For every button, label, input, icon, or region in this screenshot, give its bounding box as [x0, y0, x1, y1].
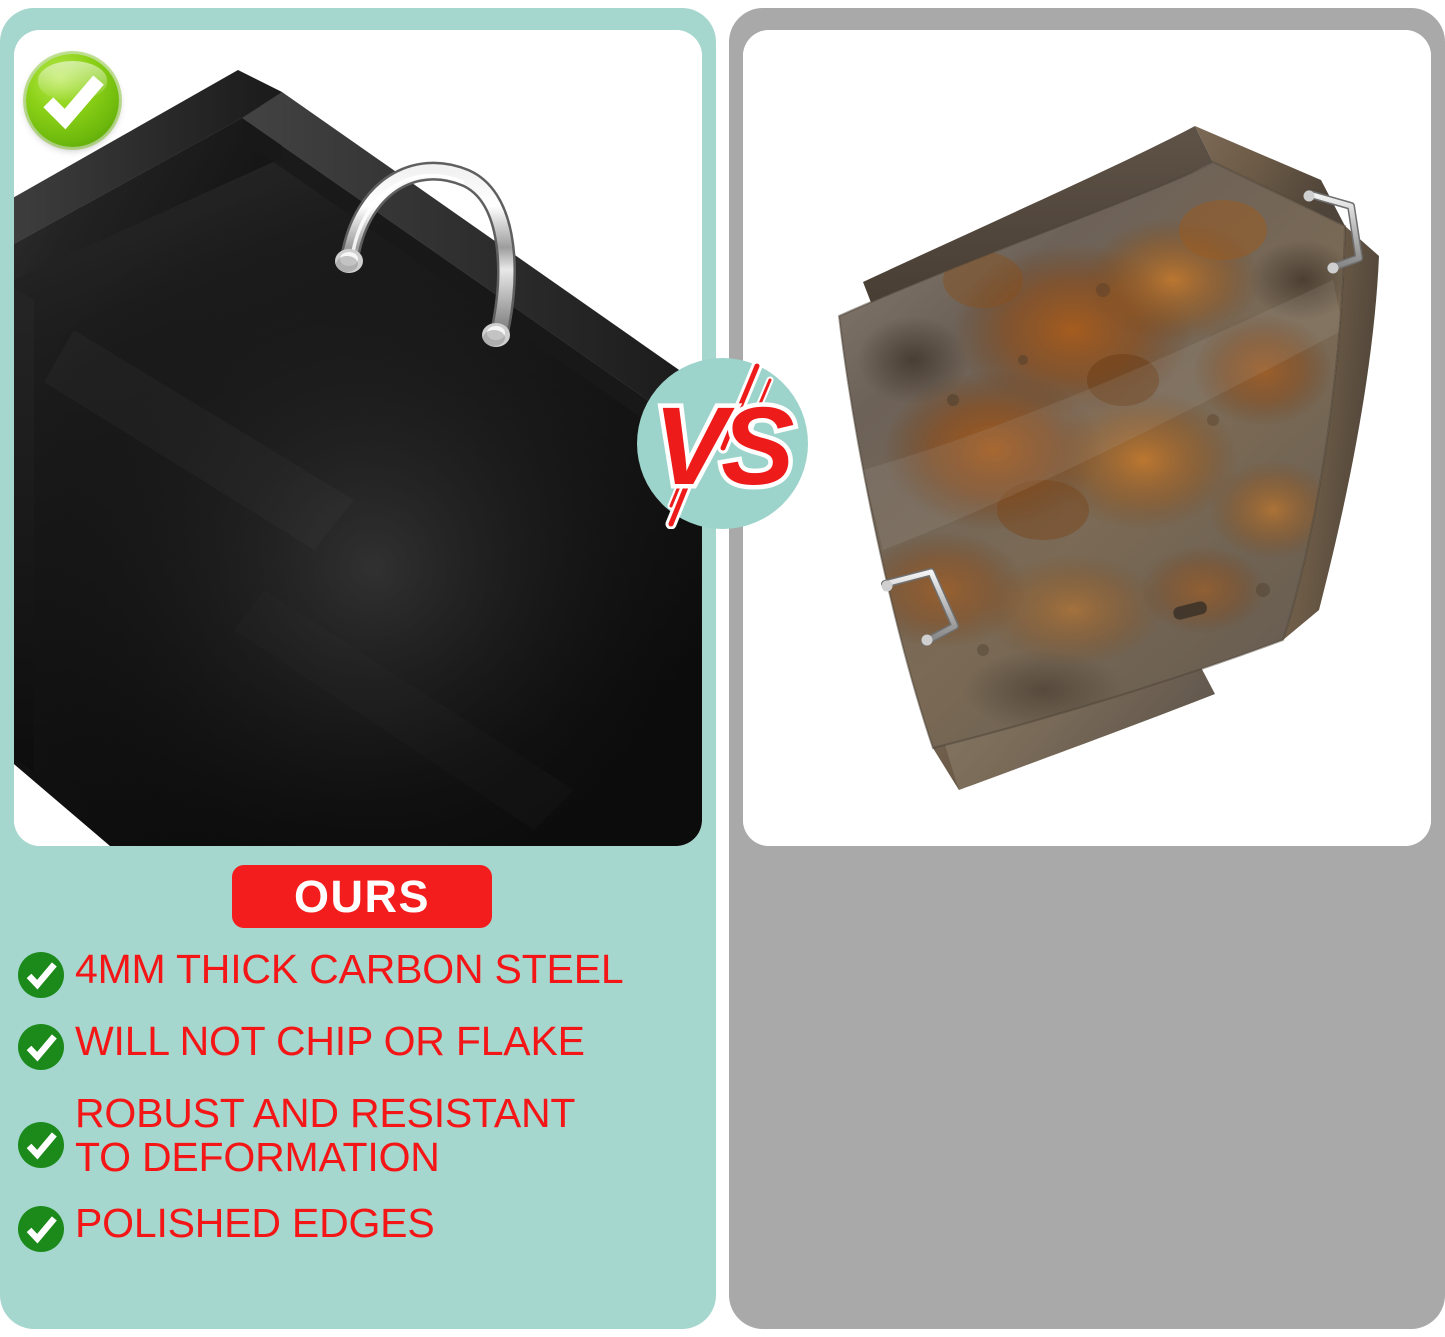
check-circle-icon — [18, 1024, 64, 1070]
product-photo-card-ours — [14, 30, 702, 846]
vs-badge: VS — [637, 358, 808, 529]
check-circle-icon — [18, 1122, 64, 1168]
feature-list-ours: 4MM THICK CARBON STEEL WILL NOT CHIP OR … — [18, 948, 704, 1274]
vs-logo: VS — [637, 358, 808, 529]
feature-label: WILL NOT CHIP OR FLAKE — [75, 1020, 585, 1064]
title-label-ours: OURS — [294, 871, 430, 923]
check-circle-icon — [18, 952, 64, 998]
title-badge-ours: OURS — [232, 865, 492, 928]
feature-label: ROBUST AND RESISTANT TO DEFORMATION — [75, 1092, 575, 1180]
svg-text:VS: VS — [654, 385, 794, 508]
feature-item: WILL NOT CHIP OR FLAKE — [18, 1020, 704, 1070]
black-griddle-product-image — [14, 30, 702, 846]
comparison-panel-others: OTHERS Thinner and lighter materials Chi… — [729, 8, 1445, 1329]
feature-item: ROBUST AND RESISTANT TO DEFORMATION — [18, 1092, 704, 1180]
feature-label: 4MM THICK CARBON STEEL — [75, 948, 623, 992]
feature-item: 4MM THICK CARBON STEEL — [18, 948, 704, 998]
product-photo-card-others — [743, 30, 1431, 846]
comparison-panel-ours: OURS 4MM THICK CARBON STEEL WILL NOT CHI… — [0, 8, 716, 1329]
feature-item: POLISHED EDGES — [18, 1202, 704, 1252]
feature-label: POLISHED EDGES — [75, 1202, 434, 1246]
rusty-griddle-product-image — [743, 30, 1431, 846]
check-mark-glyph — [26, 54, 119, 147]
check-circle-icon — [18, 1206, 64, 1252]
check-circle-icon — [26, 54, 119, 147]
